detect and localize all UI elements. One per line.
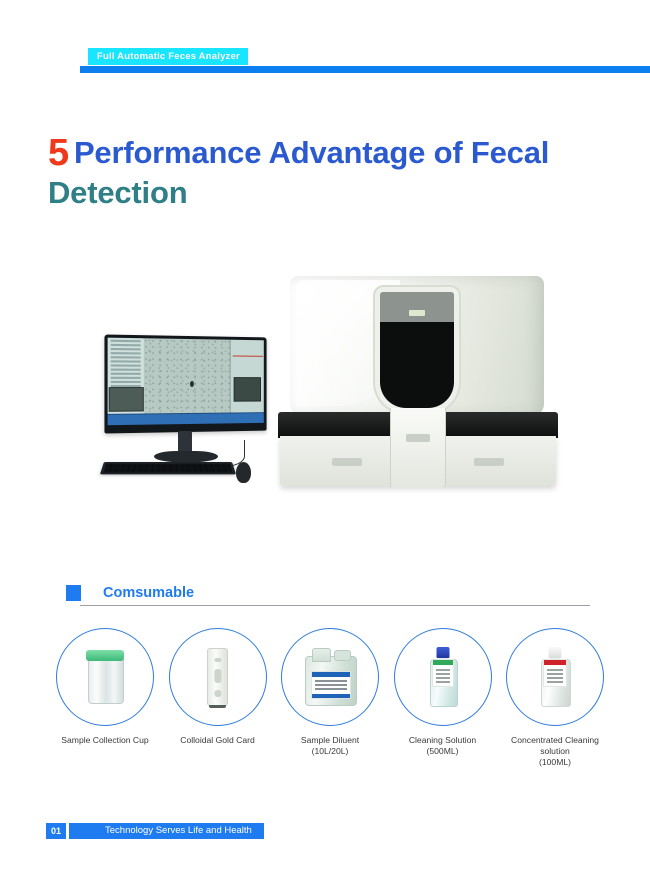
sample-diluent-icon bbox=[282, 629, 378, 725]
section-divider bbox=[80, 605, 590, 606]
consumable-sample-collection-cup: Sample Collection Cup bbox=[52, 628, 158, 768]
center-drawer-handle bbox=[406, 434, 430, 442]
consumable-sample-diluent: Sample Diluent (10L/20L) bbox=[277, 628, 383, 768]
page-number: 01 bbox=[46, 823, 66, 839]
analyzer-center-column bbox=[390, 408, 446, 488]
product-circle-frame bbox=[169, 628, 267, 726]
right-drawer-handle bbox=[474, 458, 504, 466]
consumable-label: Sample Collection Cup bbox=[52, 735, 158, 746]
sample-bay-header bbox=[380, 292, 454, 322]
title-main-text: Performance Advantage of Fecal bbox=[74, 135, 549, 170]
product-circle-frame bbox=[281, 628, 379, 726]
product-circle-frame bbox=[394, 628, 492, 726]
title-section-number: 5 bbox=[48, 132, 69, 174]
monitor-screen bbox=[108, 338, 264, 426]
consumable-colloidal-gold-card: Colloidal Gold Card bbox=[165, 628, 271, 768]
analyzer-upper-housing bbox=[290, 276, 544, 416]
consumable-cleaning-solution: Cleaning Solution (500ML) bbox=[390, 628, 496, 768]
header-blue-rule bbox=[80, 66, 650, 73]
analyzer-workstation bbox=[96, 336, 276, 486]
consumable-label: Sample Diluent (10L/20L) bbox=[277, 735, 383, 757]
page-title: 5Performance Advantage of Fecal Detectio… bbox=[48, 133, 623, 213]
monitor-stand-neck bbox=[178, 431, 192, 453]
analysis-software-monitor bbox=[104, 334, 266, 433]
product-circle-frame bbox=[56, 628, 154, 726]
consumable-label: Colloidal Gold Card bbox=[165, 735, 271, 746]
consumable-concentrated-cleaning-solution: Concentrated Cleaning solution (100ML) bbox=[502, 628, 608, 768]
product-photo-area bbox=[0, 258, 650, 518]
page-header: Full Automatic Feces Analyzer bbox=[0, 0, 650, 100]
fecal-analyzer-instrument bbox=[278, 276, 558, 491]
section-marker-square bbox=[66, 585, 81, 601]
title-sub-text: Detection bbox=[48, 175, 187, 210]
software-status-bar bbox=[108, 412, 264, 425]
title-first-line: 5Performance Advantage of Fecal bbox=[48, 133, 623, 173]
analyzer-sample-bay bbox=[380, 292, 454, 408]
consumable-label: Cleaning Solution (500ML) bbox=[390, 735, 496, 757]
cleaning-solution-icon bbox=[395, 629, 491, 725]
sample-collection-cup-icon bbox=[57, 629, 153, 725]
consumable-list: Sample Collection Cup Colloidal Gold Car… bbox=[52, 628, 608, 768]
title-second-line: Detection bbox=[48, 173, 623, 213]
left-drawer-handle bbox=[332, 458, 362, 466]
detail-preview-box bbox=[234, 378, 262, 402]
product-circle-frame bbox=[506, 628, 604, 726]
footer-tagline: Technology Serves Life and Health bbox=[69, 823, 264, 839]
colloidal-gold-card-icon bbox=[170, 629, 266, 725]
specimen-thumbnail bbox=[109, 387, 144, 412]
consumable-label: Concentrated Cleaning solution (100ML) bbox=[502, 735, 608, 768]
status-indicator-light bbox=[409, 310, 425, 316]
specimen-particle bbox=[190, 381, 194, 387]
concentrated-cleaning-solution-icon bbox=[507, 629, 603, 725]
page-footer: 01 Technology Serves Life and Health bbox=[46, 823, 264, 839]
consumable-heading: Comsumable bbox=[103, 584, 194, 603]
measurement-line bbox=[232, 356, 262, 357]
software-right-panel bbox=[230, 340, 264, 414]
microscopy-field-view bbox=[144, 338, 231, 414]
keyboard bbox=[100, 462, 236, 474]
header-product-badge: Full Automatic Feces Analyzer bbox=[88, 48, 248, 65]
mouse bbox=[236, 462, 251, 483]
consumable-section-header: Comsumable bbox=[66, 584, 590, 608]
